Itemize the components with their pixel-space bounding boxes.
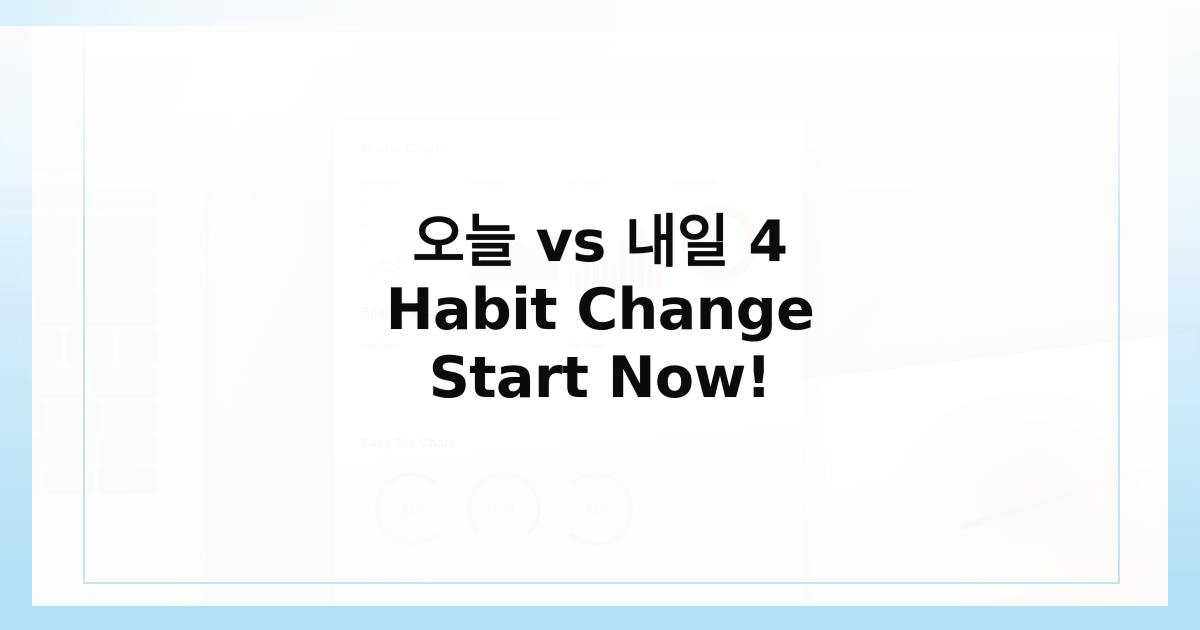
headline-line-3: Start Now! xyxy=(0,344,1200,412)
headline-line-2: Habit Change xyxy=(0,276,1200,344)
headline-line-1: 오늘 vs 내일 4 xyxy=(0,208,1200,276)
headline: 오늘 vs 내일 4 Habit Change Start Now! xyxy=(0,208,1200,412)
thumbnail-card: Morris Charts Line Chart 60 40 20 0 xyxy=(0,0,1200,630)
